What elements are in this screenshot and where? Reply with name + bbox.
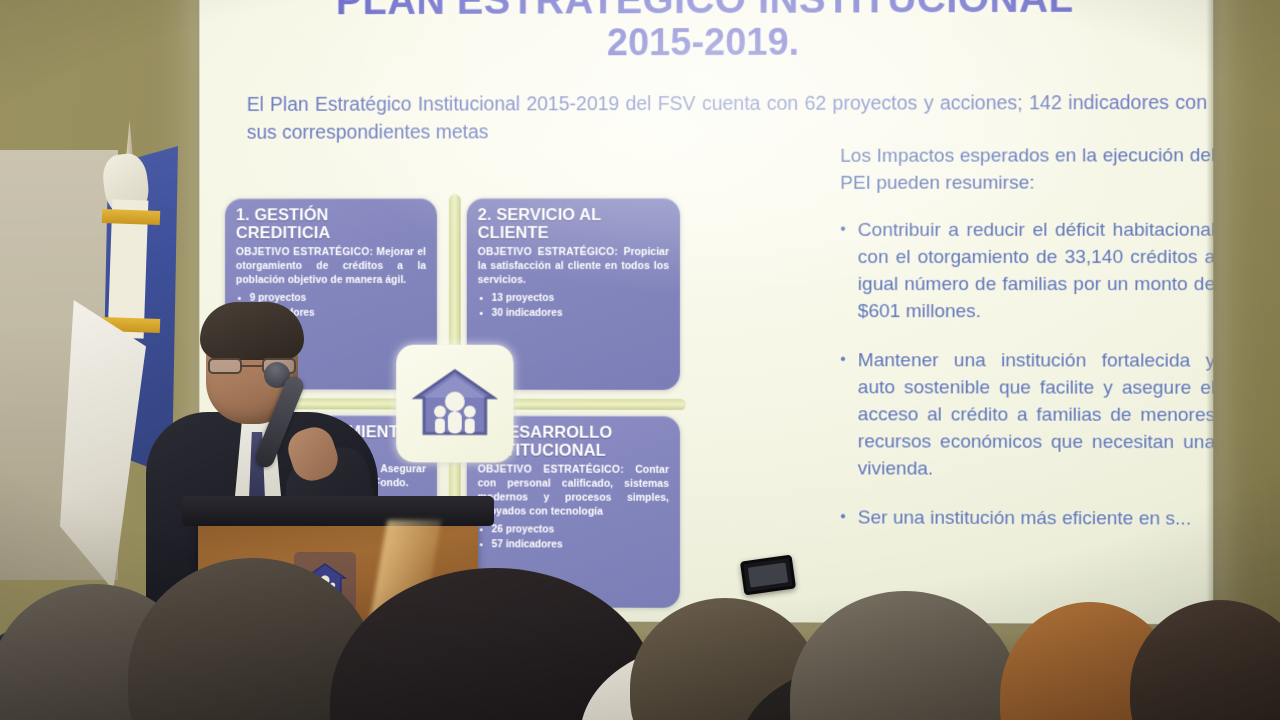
quadrant-2-title: 2. SERVICIO AL CLIENTE: [478, 207, 669, 243]
slide-intro-paragraph: El Plan Estratégico Institucional 2015-2…: [247, 89, 1207, 147]
quadrant-1-objective-lead: OBJETIVO ESTRATÉGICO:: [236, 247, 373, 258]
quadrant-2-objective-lead: OBJETIVO ESTRATÉGICO:: [478, 247, 618, 258]
quadrant-1-title: 1. GESTIÓN CREDITICIA: [236, 207, 426, 243]
flag-gold-band-top: [102, 209, 160, 225]
quadrant-1-objective: OBJETIVO ESTRATÉGICO: Mejorar el otorgam…: [236, 246, 426, 288]
audience-head-5: [790, 591, 1020, 720]
quadrant-2-stat-projects: 13 proyectos: [492, 291, 669, 306]
impact-bullet-1: • Contribuir a reducir el déficit habita…: [840, 218, 1213, 327]
audience-head-7: [1130, 600, 1280, 720]
quadrant-2-stat-indicators: 30 indicadores: [492, 306, 669, 321]
slide-title-line2: 2015-2019.: [199, 20, 1213, 66]
audience-heads: [0, 460, 1280, 720]
quadrant-2-objective: OBJETIVO ESTRATÉGICO: Propiciar la satis…: [478, 246, 669, 288]
audience-phone-camera: [740, 555, 796, 596]
impacts-lead: Los Impactos esperados en la ejecución d…: [840, 143, 1213, 198]
bullet-dot-icon: •: [840, 218, 846, 326]
presentation-photo: PLAN ESTRATÉGICO INSTITUCIONAL 2015-2019…: [0, 0, 1280, 720]
impact-bullet-1-text: Contribuir a reducir el déficit habitaci…: [858, 218, 1213, 327]
quadrant-2-stats: 13 proyectos 30 indicadores: [492, 291, 669, 322]
presenter-hair: [200, 302, 304, 360]
